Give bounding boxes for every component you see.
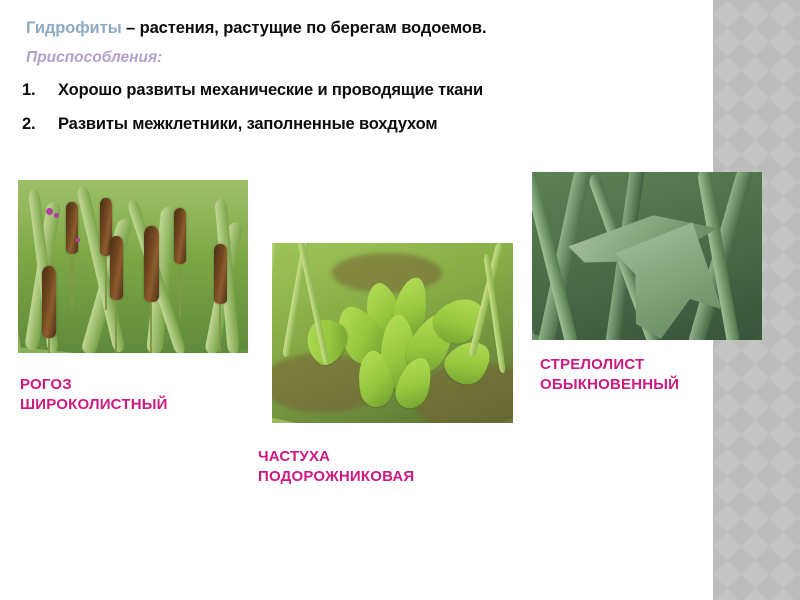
photo-chastuha-podorozhnikovaya (272, 243, 513, 423)
caption-chastuha-podorozhnikovaya: ЧАСТУХА ПОДОРОЖНИКОВАЯ (258, 447, 414, 487)
cattail-spike (42, 266, 56, 338)
cattail-spike (214, 244, 227, 304)
purple-floret (46, 208, 53, 215)
lead-sentence: Гидрофиты – растения, растущие по берега… (26, 18, 713, 39)
photo-strelolist-obyknovenny (532, 172, 762, 340)
purple-floret (76, 238, 80, 242)
cattail-spike (66, 202, 78, 254)
slide-text-block: Гидрофиты – растения, растущие по берега… (0, 0, 713, 148)
slide-canvas: Гидрофиты – растения, растущие по берега… (0, 0, 800, 600)
list-item: Хорошо развиты механические и проводящие… (0, 80, 713, 100)
term-hydrophytes: Гидрофиты (26, 19, 122, 37)
lead-definition: – растения, растущие по берегам водоемов… (122, 19, 487, 37)
purple-floret (54, 213, 59, 218)
caption-rogoz-shirokolistny: РОГОЗ ШИРОКОЛИСТНЫЙ (20, 375, 168, 415)
cattail-spike (110, 236, 123, 300)
list-item: Развиты межклетники, заполненные вохдухо… (0, 114, 713, 134)
caption-strelolist-obyknovenny: СТРЕЛОЛИСТ ОБЫКНОВЕННЫЙ (540, 355, 679, 395)
cattail-spike (174, 208, 186, 264)
adaptations-list: Хорошо развиты механические и проводящие… (0, 80, 713, 134)
adaptations-subheading: Приспособления: (26, 48, 713, 67)
photo-rogoz-shirokolistny (18, 180, 248, 353)
cattail-spike (144, 226, 159, 302)
